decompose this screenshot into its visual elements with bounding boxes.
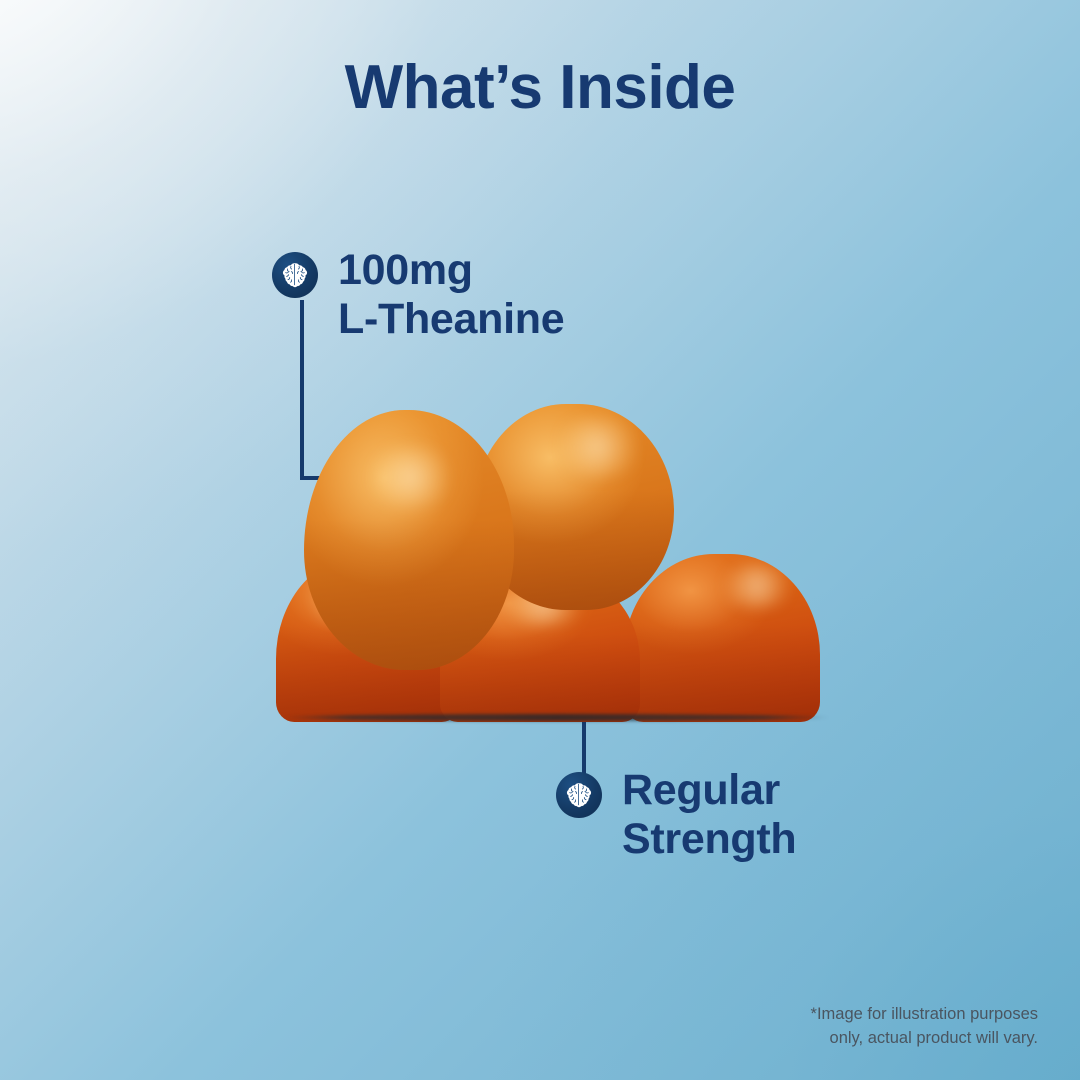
product-callout-image: What’s Inside — [0, 0, 1080, 1080]
callout-theanine-label: 100mg L-Theanine — [338, 246, 564, 343]
disclaimer-text: *Image for illustration purposes only, a… — [811, 1003, 1038, 1050]
page-title: What’s Inside — [0, 52, 1080, 123]
gummy-stack-shadow — [282, 714, 830, 721]
brain-icon — [556, 772, 602, 818]
brain-icon — [272, 252, 318, 298]
gummy-shading — [304, 410, 514, 670]
gummy-stack — [276, 404, 836, 722]
callout-theanine: 100mg L-Theanine — [272, 252, 564, 343]
callout-strength-label: Regular Strength — [622, 766, 796, 863]
gummy-top-left — [304, 410, 514, 670]
callout-strength: Regular Strength — [556, 772, 796, 863]
